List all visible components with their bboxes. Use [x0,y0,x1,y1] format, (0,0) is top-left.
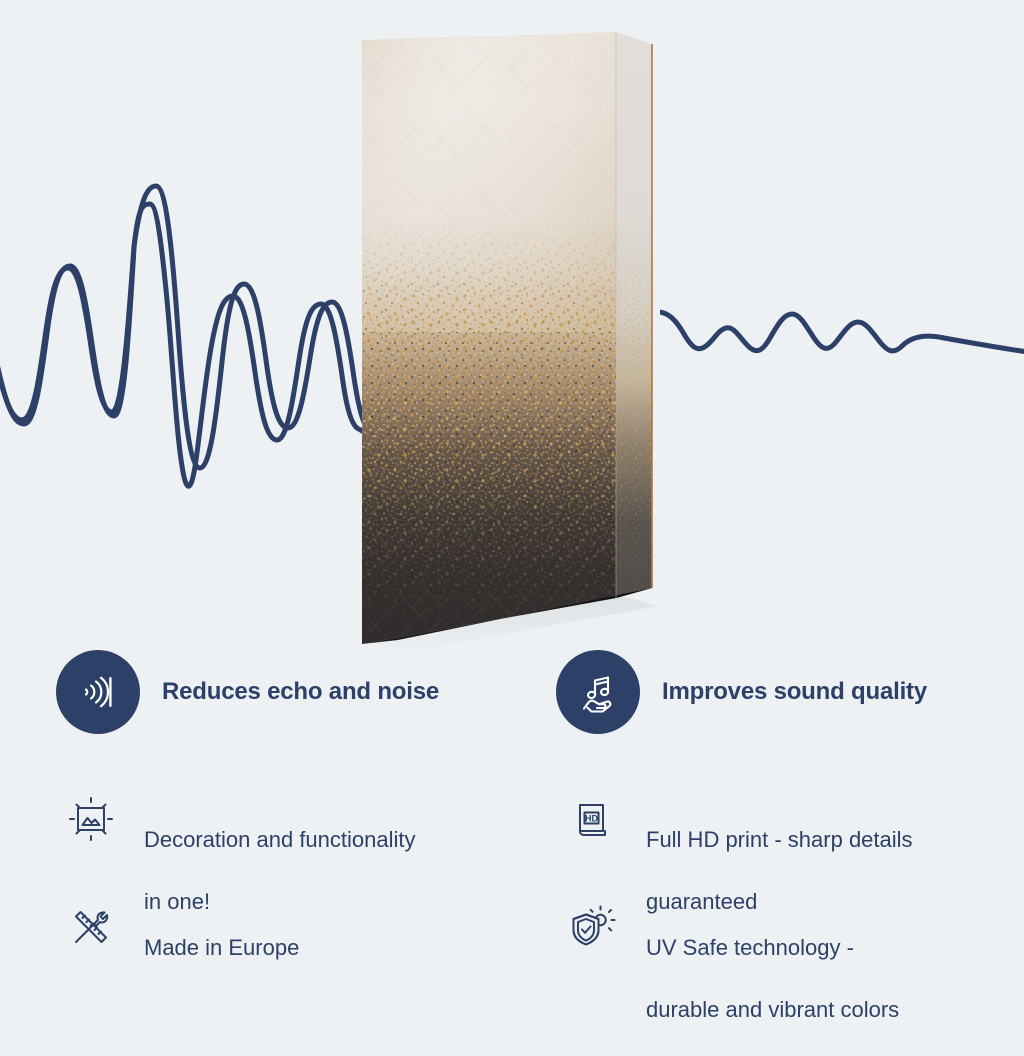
badge-circle [556,650,640,734]
feature-line-1: Decoration and functionality [144,827,416,852]
badge-label: Reduces echo and noise [162,677,439,707]
framed-picture-sun-icon [65,793,117,845]
badge-improves-sound[interactable]: Improves sound quality [556,650,927,734]
uv-shield-sun-icon [567,901,619,953]
feature-icon-wrap [62,898,120,956]
canvas-side-face [608,32,668,652]
feature-text: Made in Europe [144,898,299,963]
hd-page-icon: HD [567,793,619,845]
feature-uv-safe[interactable]: UV Safe technology - durable and vibrant… [564,898,899,1056]
wave-path-loud-detail [0,204,364,486]
infographic-page: Reduces echo and noise Improves sound qu… [0,0,1024,1024]
badge-label: Improves sound quality [662,677,927,707]
canvas-product-image [358,32,668,652]
feature-icon-wrap: HD [564,790,622,848]
feature-line-1: Made in Europe [144,935,299,960]
feature-list: Reduces echo and noise Improves sound qu… [0,636,1024,1024]
feature-made-in-europe[interactable]: Made in Europe [62,898,299,963]
feature-line-2: durable and vibrant colors [646,994,899,1025]
feature-icon-wrap [564,898,622,956]
sound-absorption-icon [74,668,122,716]
badge-circle [56,650,140,734]
feature-line-1: Full HD print - sharp details [646,827,913,852]
hd-label: HD [585,814,598,824]
wave-path-loud [0,186,372,468]
hand-music-note-icon [574,668,622,716]
badge-reduces-echo[interactable]: Reduces echo and noise [56,650,439,734]
feature-icon-wrap [62,790,120,848]
wave-path-damped [658,312,1024,352]
feature-text: UV Safe technology - durable and vibrant… [646,898,899,1056]
feature-line-1: UV Safe technology - [646,935,854,960]
ruler-hammer-icon [65,901,117,953]
